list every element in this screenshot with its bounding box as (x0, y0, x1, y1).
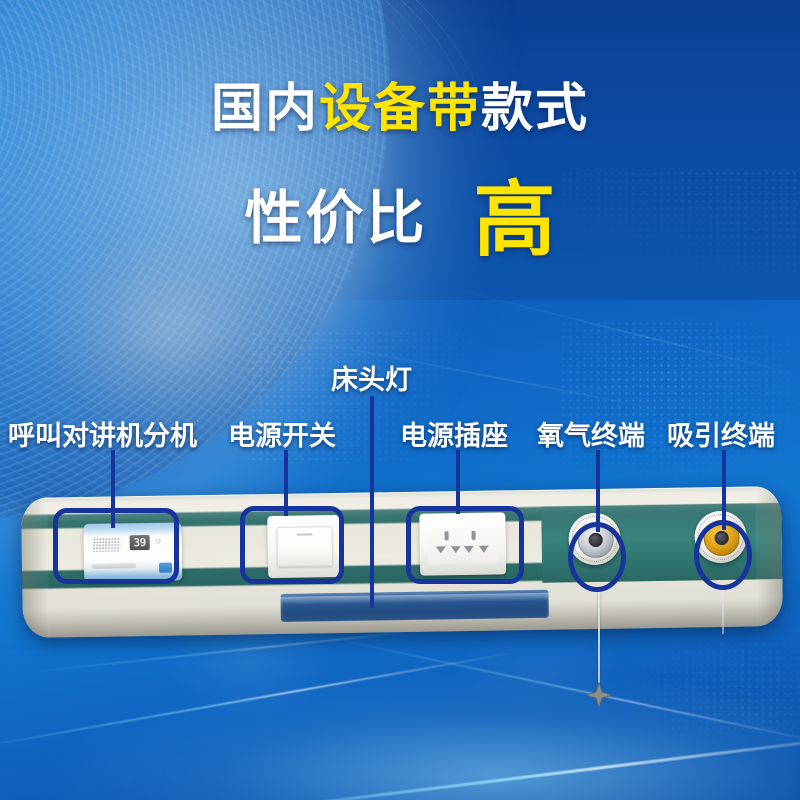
leader-line-bedside-lamp (370, 396, 374, 608)
highlight-ring-oxygen-terminal (568, 522, 626, 592)
highlight-ring-suction-terminal (694, 520, 752, 590)
highlight-ring-power-switch (240, 506, 344, 584)
callout-label-suction-terminal: 吸引终端 (667, 414, 775, 453)
leader-line-oxygen-terminal (596, 450, 600, 532)
leader-line-suction-terminal (722, 450, 726, 530)
highlight-ring-nurse-call-intercom (53, 508, 179, 584)
highlight-ring-power-socket (406, 506, 524, 584)
callout-labels: 呼叫对讲机分机 电源开关 床头灯 电源插座 氧气终端 吸引终端 (0, 0, 800, 800)
callout-label-power-switch: 电源开关 (228, 414, 336, 453)
callout-label-oxygen-terminal: 氧气终端 (537, 414, 645, 453)
callout-label-nurse-call-intercom: 呼叫对讲机分机 (8, 414, 197, 453)
poster-canvas: 国内设备带款式 性价比高 呼叫对讲机分机 电源开关 床头灯 电源插座 氧气终端 … (0, 0, 800, 800)
leader-line-power-socket (456, 450, 460, 514)
callout-label-power-socket: 电源插座 (400, 414, 508, 453)
callout-label-bedside-lamp: 床头灯 (331, 358, 412, 397)
